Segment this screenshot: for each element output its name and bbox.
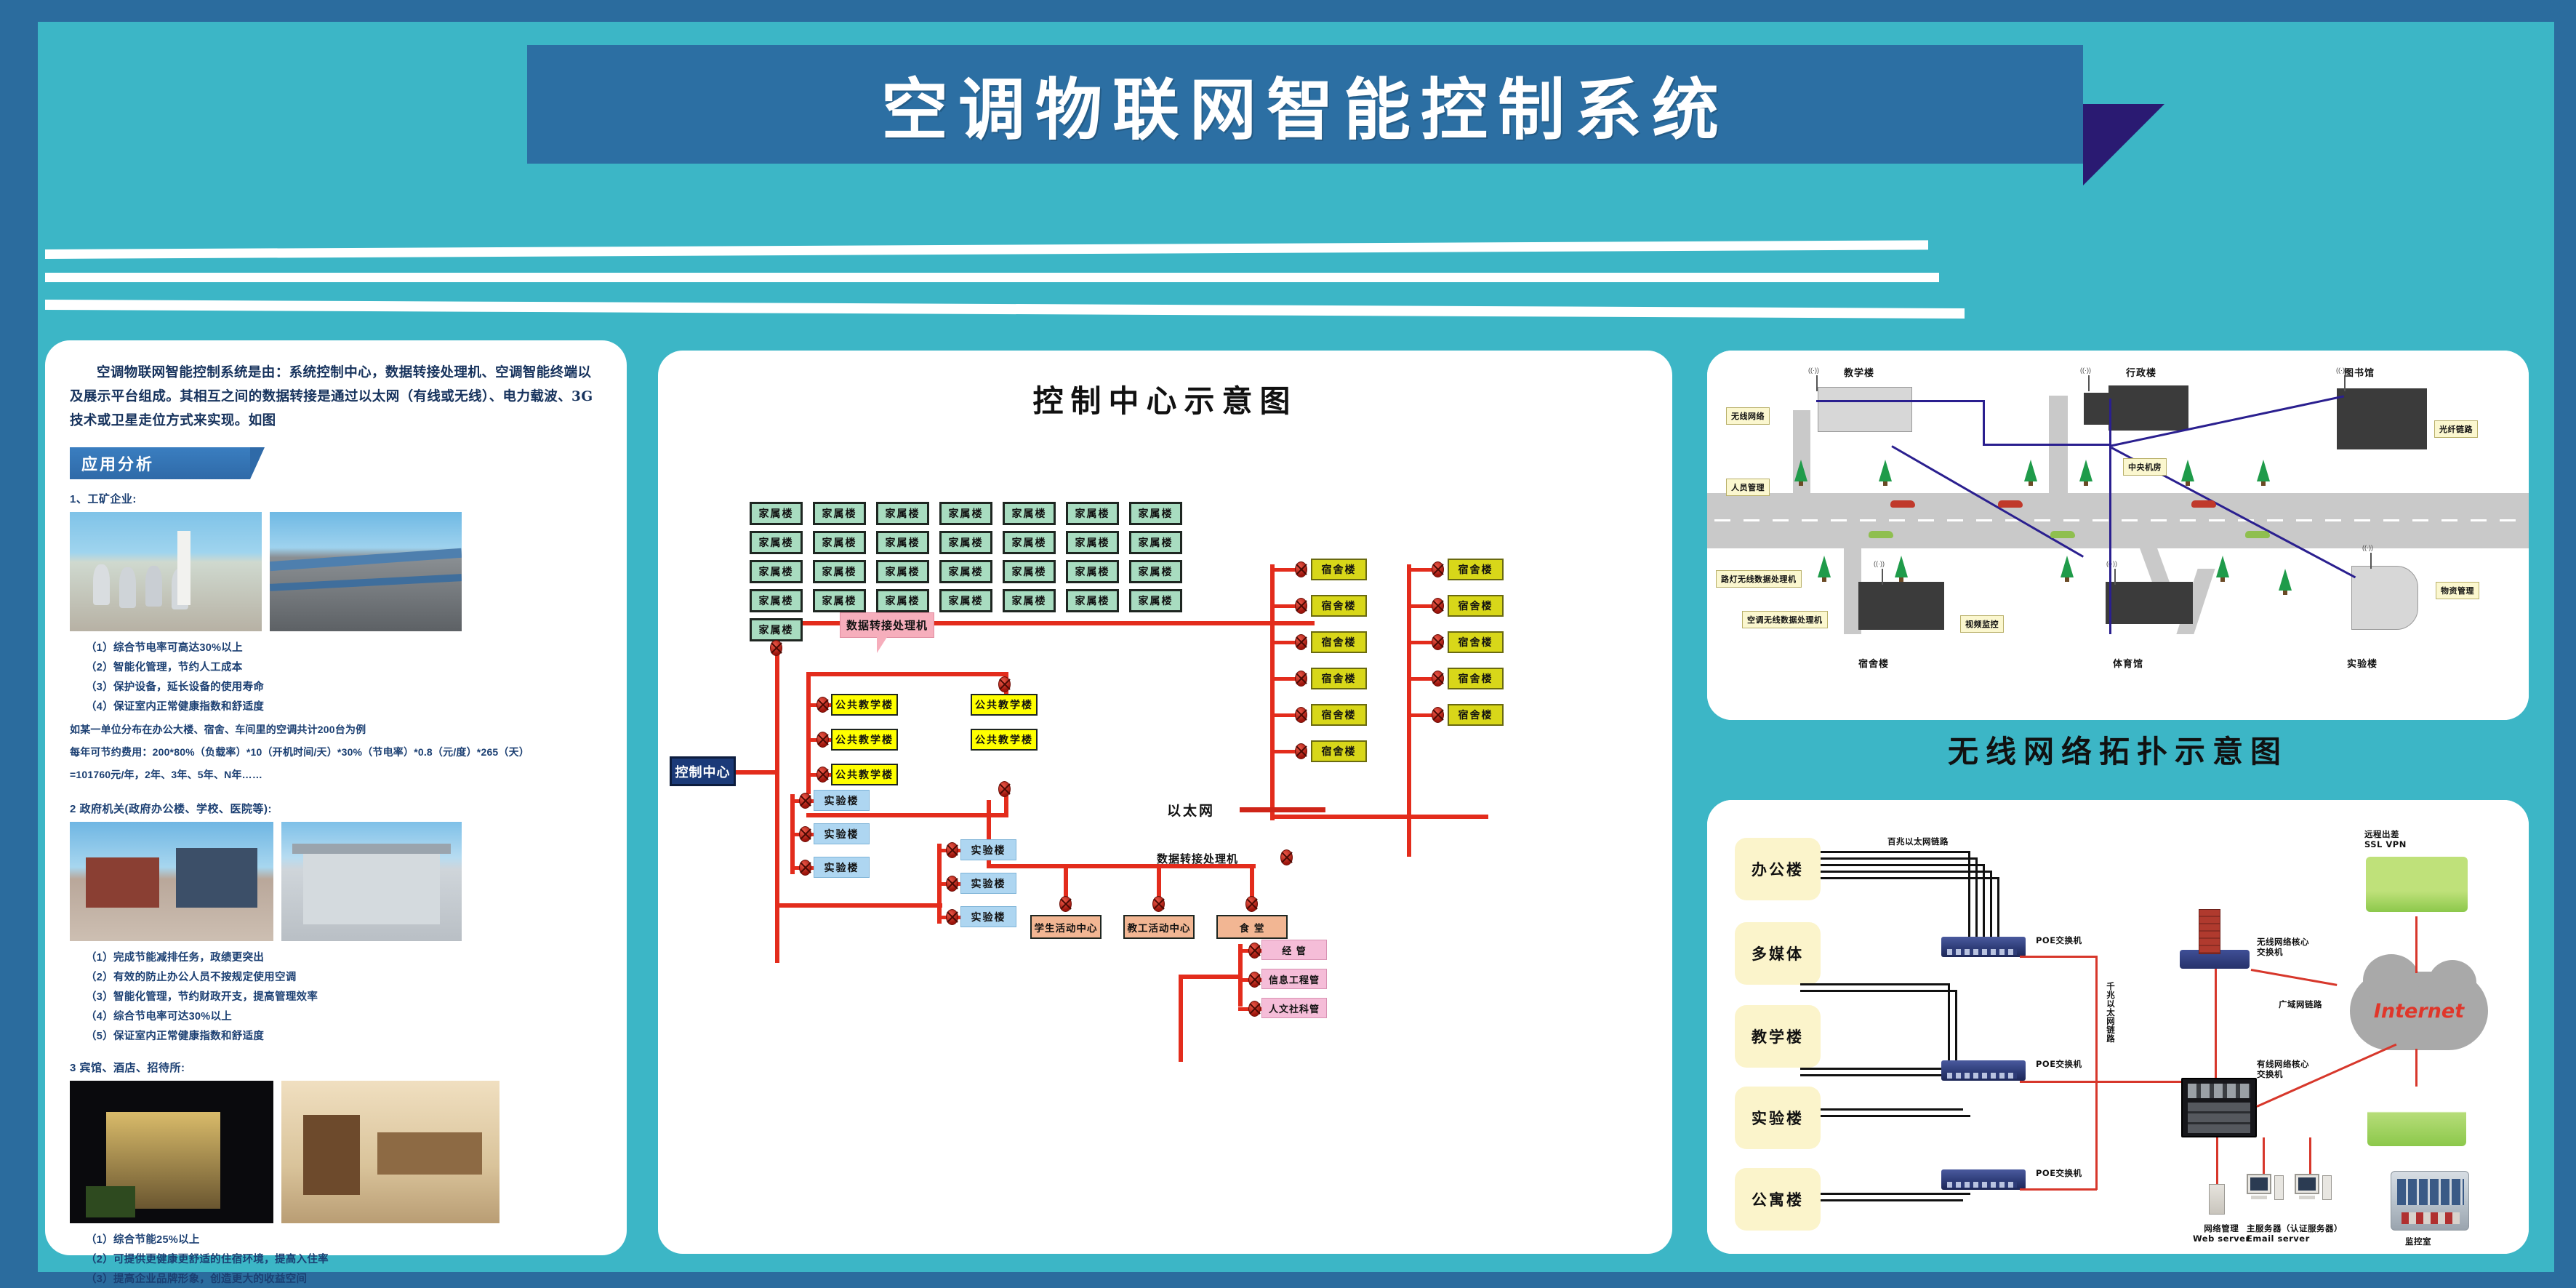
dorm-bottom-bus [1270, 815, 1488, 819]
hundred-meg-link-label: 百兆以太网链路 [1887, 836, 1949, 847]
tree-icon [2216, 556, 2229, 577]
branch-road-mid [2049, 396, 2068, 496]
data-processor-node [770, 640, 782, 656]
internet-cloud: Internet [2350, 972, 2488, 1050]
fiber-link [2095, 1081, 2098, 1190]
tree-icon [1794, 460, 1807, 481]
section-heading-hotel: 3 宾馆、酒店、招待所: [70, 1060, 602, 1075]
tree-icon [1818, 556, 1831, 577]
tree-icon [1895, 556, 1908, 577]
ethernet-line [1948, 983, 1950, 1062]
bullet-item: （1）综合节能25%以上 [70, 1231, 602, 1250]
family-building-node: 家属楼 [1066, 589, 1119, 612]
student-user-illustration [2367, 1087, 2466, 1146]
bullet-item: （3）智能化管理，节约财政开支，提高管理效率 [70, 988, 602, 1007]
tree-icon [2181, 460, 2194, 481]
bullet-item: （3）保护设备，延长设备的使用寿命 [70, 678, 602, 697]
legend-processor-icon [1280, 849, 1293, 865]
hotel-dining-room-photo [281, 1081, 499, 1223]
car-icon [2191, 500, 2216, 508]
tag-video-surveillance: 视频监控 [1960, 615, 2004, 633]
family-building-node: 家属楼 [750, 502, 803, 525]
wireless-antenna-icon [2114, 569, 2116, 585]
department-node: 人文社科管 [1261, 998, 1327, 1018]
topo-building-multimedia: 多媒体 [1735, 922, 1821, 985]
public-teaching-node: 公共教学楼 [831, 729, 898, 751]
data-processor-node [1248, 1001, 1261, 1017]
tag-streetlight-processor: 路灯无线数据处理机 [1716, 570, 1802, 588]
library-building-sprite [2337, 388, 2427, 449]
campus-link [2109, 445, 2111, 634]
dorm-building-node: 宿舍楼 [1311, 740, 1367, 762]
industry-example-line-2: 每年可节约费用：200*80%（负载率）*10（开机时间/天）*30%（节电率）… [70, 743, 602, 762]
gym-building-sprite [2106, 582, 2193, 624]
data-processor-node [816, 767, 829, 783]
intro-paragraph: 空调物联网智能控制系统是由：系统控制中心，数据转接处理机、空调智能终端以及展示平… [70, 361, 602, 433]
pipeline-facility-photo [270, 512, 462, 631]
dorm-building-node: 宿舍楼 [1448, 631, 1504, 653]
monitor-icon [2295, 1174, 2319, 1194]
admin-building-sprite [2108, 385, 2188, 431]
tag-fiber-link: 光纤链路 [2434, 420, 2478, 438]
activity-center-node: 食 堂 [1216, 915, 1288, 939]
teaching-right-top [806, 672, 1007, 676]
dorm-left-bus [1270, 564, 1275, 820]
section-heading-government: 2 政府机关(政府办公楼、学校、医院等): [70, 801, 602, 816]
car-icon [1998, 500, 2023, 508]
ethernet-line [1800, 1074, 1950, 1076]
bullet-item: （3）提高企业品牌形象，创造更大的收益空间 [70, 1270, 602, 1288]
title-band: 空调物联网智能控制系统 [527, 45, 2083, 164]
car-icon [2245, 531, 2270, 538]
campus-link [1983, 444, 2111, 446]
department-feed [1179, 975, 1241, 979]
industry-example-line-1: 如某一单位分布在办公大楼、宿舍、车间里的空调共计200台为例 [70, 720, 602, 740]
data-processor-node [816, 697, 829, 713]
ethernet-line [1821, 851, 1970, 853]
admin-building-annex [2084, 393, 2108, 425]
topology-diagram-card: 办公楼 多媒体 教学楼 实验楼 公寓楼 [1707, 800, 2529, 1254]
tag-central-equip-room: 中央机房 [2123, 458, 2167, 476]
family-building-node: 家属楼 [1003, 502, 1056, 525]
data-processor-node [799, 826, 811, 842]
family-building-node: 家属楼 [876, 502, 929, 525]
data-processor-node [946, 876, 958, 892]
tower-icon [2274, 1175, 2284, 1200]
industry-example-line-3: =101760元/年，2年、3年、5年、N年…… [70, 765, 602, 785]
control-center-diagram: 家属楼家属楼家属楼家属楼家属楼家属楼家属楼家属楼家属楼家属楼家属楼家属楼家属楼家… [658, 351, 1672, 1254]
department-node: 经 管 [1261, 940, 1327, 960]
lab-building-sprite [2351, 566, 2418, 630]
family-building-node: 家属楼 [813, 560, 866, 583]
dorm-building-node: 宿舍楼 [1311, 595, 1367, 617]
family-building-node: 家属楼 [876, 531, 929, 554]
tree-icon [2279, 569, 2292, 591]
data-processor-node [946, 842, 958, 858]
topo-building-lab: 实验楼 [1735, 1087, 1821, 1149]
dorm-building-node: 宿舍楼 [1448, 704, 1504, 726]
bullet-item: （2）可提供更健康更舒适的住宿环境，提高入住率 [70, 1250, 602, 1270]
ethernet-line [1990, 871, 1992, 940]
control-center-node: 控制中心 [670, 756, 736, 786]
ethernet-line [1821, 1115, 1970, 1117]
campus-illustration: 教学楼 行政楼 图书馆 宿舍楼 体育馆 实验楼 [1707, 351, 2529, 720]
family-building-node: 家属楼 [876, 589, 929, 612]
public-teaching-node: 公共教学楼 [971, 729, 1038, 751]
poe-switch-label: POE交换机 [2036, 935, 2082, 945]
department-riser [1179, 975, 1183, 1062]
data-processor-node [1432, 634, 1444, 650]
data-processor-node [1295, 634, 1307, 650]
family-building-node: 家属楼 [1066, 560, 1119, 583]
bullet-item: （1）完成节能减排任务，政绩更突出 [70, 948, 602, 968]
data-processor-node [816, 732, 829, 748]
topo-building-apartment: 公寓楼 [1735, 1168, 1821, 1231]
wireless-antenna-icon [1816, 375, 1818, 391]
lab-building-node: 实验楼 [814, 857, 870, 878]
car-icon [1869, 531, 1893, 538]
tag-personnel-mgmt: 人员管理 [1726, 479, 1770, 496]
tower-icon [2322, 1175, 2332, 1200]
network-mgmt-device [2209, 1184, 2225, 1215]
photo-row-hotel [70, 1081, 602, 1223]
application-analysis-label: 应用分析 [81, 452, 154, 475]
family-building-node: 家属楼 [876, 560, 929, 583]
lab-building-node: 实验楼 [960, 839, 1016, 860]
fiber-link [2095, 1081, 2181, 1083]
dorm-building-node: 宿舍楼 [1448, 668, 1504, 689]
photo-row-industry [70, 512, 602, 631]
dorm-building-node: 宿舍楼 [1448, 559, 1504, 580]
wan-link-line [2251, 969, 2338, 986]
vpn-link [2415, 916, 2417, 973]
family-building-node: 家属楼 [750, 560, 803, 583]
bullet-item: （5）保证室内正常健康指数和舒适度 [70, 1027, 602, 1047]
tree-icon [2061, 556, 2074, 577]
remote-vpn-label: 远程出差 SSL VPN [2364, 829, 2407, 849]
left-text-card: 空调物联网智能控制系统是由：系统控制中心，数据转接处理机、空调智能终端以及展示平… [45, 340, 627, 1255]
lab-building-node: 实验楼 [960, 906, 1016, 927]
teaching-building-sprite [1818, 387, 1912, 432]
fiber-link [2215, 966, 2217, 1078]
trunk-v [775, 621, 779, 963]
campus-link [2109, 399, 2111, 447]
lab-right-feed [775, 903, 942, 908]
campus-label-teaching: 教学楼 [1844, 365, 1874, 379]
section-heading-industry: 1、工矿企业: [70, 491, 602, 506]
dorm-right-bus [1407, 564, 1411, 857]
legend-processor-label: 数据转接处理机 [1157, 851, 1238, 866]
data-processor-node [799, 793, 811, 809]
data-processor-node [1432, 598, 1444, 614]
network-mgmt-label: 网络管理 Web server [2193, 1223, 2250, 1244]
tag-wireless-network: 无线网络 [1726, 407, 1770, 425]
monitor-room-label: 监控室 [2405, 1236, 2431, 1247]
ethernet-line [1997, 877, 1999, 940]
main-server-label: 主服务器（认证服务器） Email server [2247, 1223, 2343, 1244]
family-building-node: 家属楼 [813, 531, 866, 554]
department-node: 信息工程管 [1261, 969, 1327, 989]
ethernet-line [1968, 851, 1970, 940]
dorm-building-node: 宿舍楼 [1311, 631, 1367, 653]
data-processor-node [1432, 671, 1444, 687]
decorative-stripe-2 [45, 273, 1939, 282]
tree-icon [2079, 460, 2093, 481]
wireless-antenna-icon [1882, 569, 1883, 585]
data-processor-node [1295, 671, 1307, 687]
family-building-node: 家属楼 [1129, 589, 1182, 612]
data-processor-node [1295, 561, 1307, 577]
bullet-item: （2）有效的防止办公人员不按规定使用空调 [70, 968, 602, 988]
data-processor-node [1059, 896, 1072, 912]
application-analysis-tab: 应用分析 [70, 447, 250, 479]
dorm-building-node: 宿舍楼 [1311, 668, 1367, 689]
dorm-building-node: 宿舍楼 [1311, 704, 1367, 726]
monitor-base [2299, 1196, 2315, 1199]
poe-switch-1 [1941, 937, 2026, 957]
photo-row-government [70, 822, 602, 941]
lab-building-node: 实验楼 [960, 873, 1016, 894]
family-building-node: 家属楼 [1003, 589, 1056, 612]
wired-core-rack [2181, 1078, 2257, 1137]
data-processor-callout: 数据转接处理机 [840, 612, 934, 638]
car-icon [1890, 500, 1915, 508]
data-processor-node [1432, 561, 1444, 577]
industrial-plant-photo [70, 512, 262, 631]
ethernet-line [1800, 990, 1957, 992]
data-processor-node [998, 676, 1011, 692]
family-building-node: 家属楼 [750, 618, 803, 641]
wireless-core-label: 无线网络核心 交换机 [2257, 937, 2309, 957]
family-building-node: 家属楼 [813, 502, 866, 525]
bullets-hotel: （1）综合节能25%以上 （2）可提供更健康更舒适的住宿环境，提高入住率 （3）… [70, 1231, 602, 1288]
monitor-icon [2247, 1174, 2271, 1194]
activity-center-node: 教工活动中心 [1123, 915, 1195, 939]
topo-building-office: 办公楼 [1735, 838, 1821, 900]
fiber-link [2020, 1081, 2097, 1083]
legend-ethernet-line [1240, 807, 1325, 812]
server-link [2309, 1137, 2311, 1174]
bullet-item: （1）综合节电率可高达30%以上 [70, 639, 602, 658]
bullet-item: （4）保证室内正常健康指数和舒适度 [70, 697, 602, 717]
dorm-building-node: 宿舍楼 [1448, 595, 1504, 617]
server-link [2216, 1137, 2218, 1185]
poe-switch-2 [1941, 1060, 2026, 1081]
family-building-node: 家属楼 [1066, 502, 1119, 525]
ethernet-line [1800, 983, 1950, 985]
corner-wedge-decoration [2083, 104, 2164, 185]
wan-link-label: 广域网链路 [2279, 999, 2322, 1009]
legend-ethernet-label: 以太网 [1167, 800, 1215, 820]
campus-building-photo [70, 822, 273, 941]
campus-label-admin: 行政楼 [2126, 365, 2156, 379]
fiber-link [2020, 1188, 2097, 1191]
public-teaching-node: 公共教学楼 [831, 764, 898, 785]
data-processor-node [1248, 972, 1261, 988]
family-building-node: 家属楼 [1066, 531, 1119, 554]
family-building-node: 家属楼 [1129, 502, 1182, 525]
poe-switch-3 [1941, 1169, 2026, 1190]
ethernet-line [1821, 1193, 1970, 1195]
ethernet-line [1821, 1199, 1963, 1201]
campus-label-gym: 体育馆 [2113, 656, 2143, 670]
bullet-item: （2）智能化管理，节约人工成本 [70, 658, 602, 678]
family-building-node: 家属楼 [750, 531, 803, 554]
trunk-h [736, 770, 779, 775]
lab-building-node: 实验楼 [814, 823, 870, 844]
data-processor-node [799, 860, 811, 876]
server-link [2263, 1137, 2265, 1174]
ethernet-line [1983, 864, 1985, 940]
tag-ac-wireless-processor: 空调无线数据处理机 [1742, 611, 1828, 628]
wireless-antenna-icon [2344, 375, 2346, 391]
wired-core-label: 有线网络核心 交换机 [2257, 1059, 2309, 1079]
road-dashes [1714, 519, 2521, 521]
ethernet-line [1821, 871, 1992, 873]
public-teaching-node: 公共教学楼 [831, 694, 898, 716]
family-building-node: 家属楼 [939, 502, 992, 525]
lab-building-node: 实验楼 [814, 790, 870, 811]
poe-switch-label: POE交换机 [2036, 1059, 2082, 1069]
monitor-base [2251, 1196, 2267, 1199]
giga-link-label: 千兆以太网链路 [2106, 982, 2116, 1043]
tree-icon [2024, 460, 2037, 481]
data-processor-node [1152, 896, 1165, 912]
monitor-room-photo [2391, 1171, 2469, 1231]
dorm-building-sprite [1858, 582, 1944, 630]
family-building-node: 家属楼 [1129, 531, 1182, 554]
family-building-node: 家属楼 [813, 589, 866, 612]
control-center-diagram-card: 控制中心示意图 家属楼家属楼家属楼家属楼家属楼家属楼家属楼家属楼家属楼家属楼家属… [658, 351, 1672, 1254]
family-building-node: 家属楼 [939, 531, 992, 554]
family-building-node: 家属楼 [750, 589, 803, 612]
data-processor-node [1295, 598, 1307, 614]
tree-icon [1879, 460, 1892, 481]
dorm-building-node: 宿舍楼 [1311, 559, 1367, 580]
page-title: 空调物联网智能控制系统 [881, 56, 1729, 153]
campus-label-library: 图书馆 [2344, 365, 2375, 379]
family-building-node: 家属楼 [1129, 560, 1182, 583]
data-processor-node [1295, 707, 1307, 723]
poe-switch-label: POE交换机 [2036, 1168, 2082, 1178]
fiber-link [2095, 956, 2098, 1085]
campus-illustration-card: 教学楼 行政楼 图书馆 宿舍楼 体育馆 实验楼 [1707, 351, 2529, 720]
tree-icon [2257, 460, 2270, 481]
bullet-item: （4）综合节电率可达30%以上 [70, 1007, 602, 1027]
wireless-antenna-icon [2088, 375, 2090, 391]
data-processor-node [1248, 943, 1261, 959]
teaching-right-bottom [806, 813, 1008, 817]
campus-label-lab: 实验楼 [2347, 656, 2378, 670]
topo-building-teaching: 教学楼 [1735, 1005, 1821, 1068]
activity-center-node: 学生活动中心 [1030, 915, 1102, 939]
ethernet-line [1821, 877, 1999, 879]
internet-user-link [2415, 1049, 2417, 1087]
ethernet-line [1821, 857, 1978, 860]
topology-diagram-title: 无线网络拓扑示意图 [1707, 727, 2529, 772]
fiber-link [2020, 956, 2097, 958]
car-icon [2050, 531, 2075, 538]
ethernet-line [1955, 990, 1957, 1068]
family-building-node: 家属楼 [939, 589, 992, 612]
wireless-antenna-icon [2370, 553, 2372, 569]
family-building-node: 家属楼 [939, 560, 992, 583]
government-building-photo [281, 822, 462, 941]
ethernet-line [1800, 1068, 1957, 1070]
poster-root: 空调物联网智能控制系统 空调物联网智能控制系统是由：系统控制中心，数据转接处理机… [0, 0, 2576, 1288]
internet-label: Internet [2374, 1000, 2464, 1023]
topology-diagram: 办公楼 多媒体 教学楼 实验楼 公寓楼 [1707, 800, 2529, 1254]
ethernet-line [1821, 1108, 1963, 1111]
remote-worker-illustration [2366, 857, 2468, 912]
firewall-icon [2199, 909, 2220, 954]
data-processor-node [1295, 743, 1307, 759]
campus-label-dorm: 宿舍楼 [1858, 656, 1889, 670]
ethernet-line [1975, 857, 1978, 940]
data-processor-node [1245, 896, 1258, 912]
campus-link [1983, 400, 1985, 445]
hotel-exterior-night-photo [70, 1081, 273, 1223]
ethernet-line [1821, 864, 1985, 866]
tag-material-mgmt: 物资管理 [2436, 582, 2479, 599]
data-processor-node [998, 781, 1011, 797]
bullets-industry: （1）综合节电率可高达30%以上 （2）智能化管理，节约人工成本 （3）保护设备… [70, 639, 602, 717]
data-processor-node [1432, 707, 1444, 723]
family-building-node: 家属楼 [1003, 531, 1056, 554]
bullets-government: （1）完成节能减排任务，政绩更突出 （2）有效的防止办公人员不按规定使用空调 （… [70, 948, 602, 1047]
data-processor-node [946, 909, 958, 925]
campus-link [1816, 400, 1985, 402]
public-teaching-node: 公共教学楼 [971, 694, 1038, 716]
family-building-node: 家属楼 [1003, 560, 1056, 583]
